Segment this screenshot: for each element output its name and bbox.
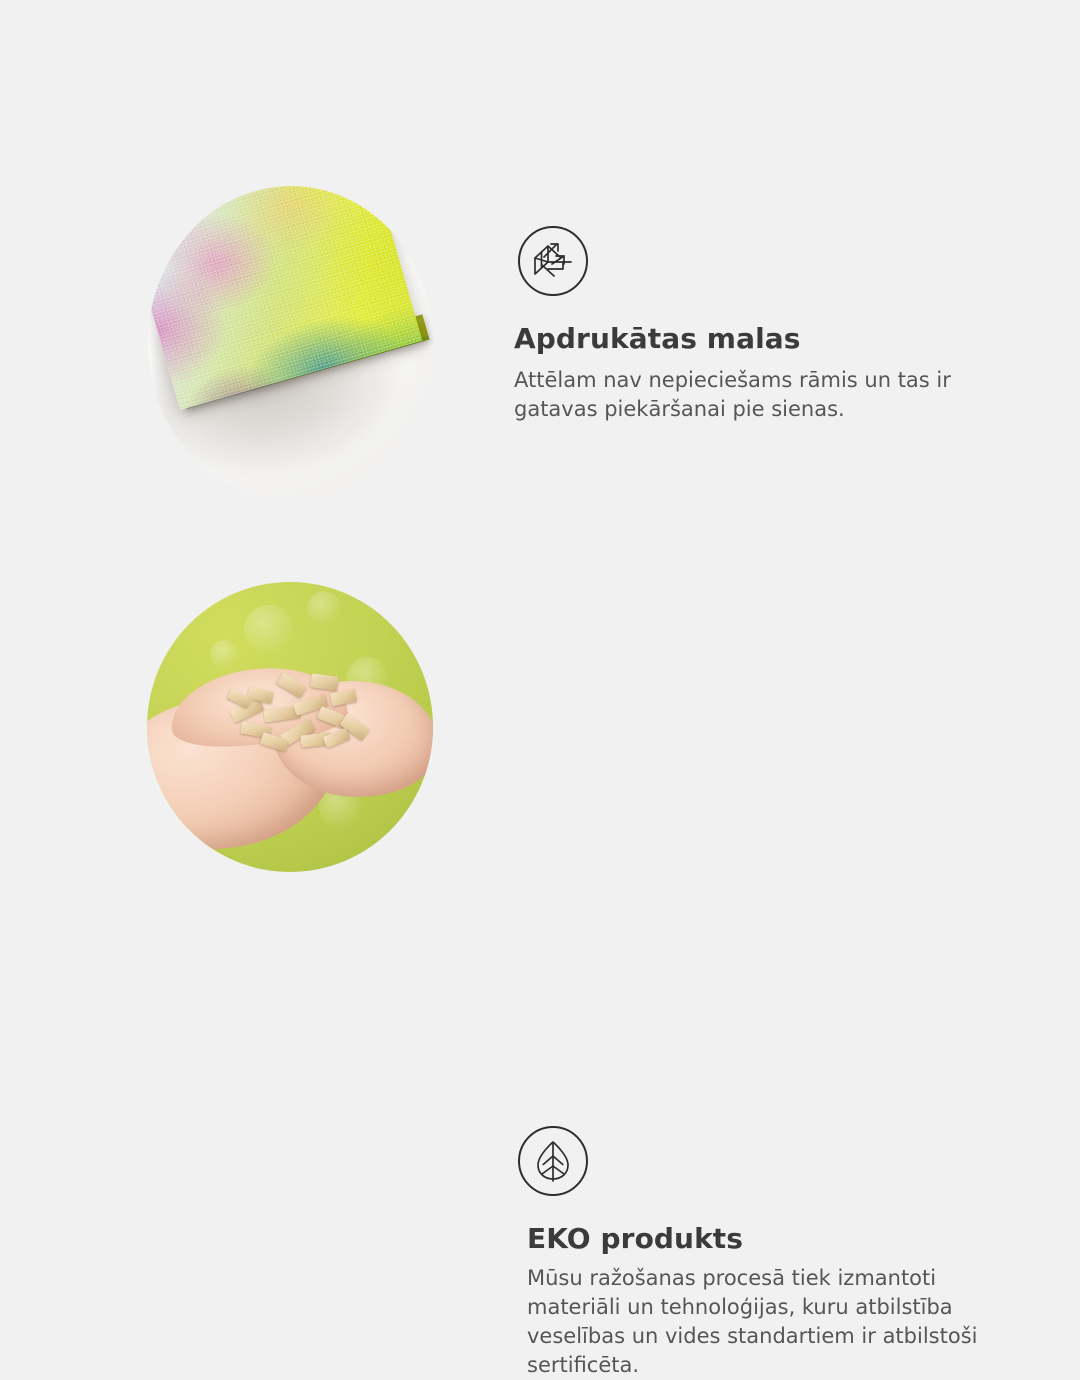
leaf-icon [518,1126,588,1196]
feature-description: Attēlam nav nepieciešams rāmis un tas ir… [514,366,994,424]
feature-title: EKO produkts [527,1222,1024,1256]
printed-edges-icon [518,226,588,296]
canvas-front-face [148,186,422,410]
feature-eko-product-info: EKO produkts Mūsu ražošanas procesā tiek… [514,1126,1024,1380]
feature-printed-edges-info: Apdrukātas malas Attēlam nav nepieciešam… [514,226,1014,424]
wood-chips-pile [221,669,387,768]
feature-printed-edges: Apdrukātas malas Attēlam nav nepieciešam… [0,0,1080,540]
infographic-page: Apdrukātas malas Attēlam nav nepieciešam… [0,0,1080,1080]
canvas-speckle-texture [148,186,422,410]
feature-description: Mūsu ražošanas procesā tiek izmantoti ma… [527,1264,1023,1380]
canvas-print-corner-photo [148,186,434,500]
feature-title: Apdrukātas malas [514,322,1014,356]
hands-holding-wood-chips-photo [147,582,433,872]
feature-eko-product: EKO produkts Mūsu ražošanas procesā tiek… [0,540,1080,1080]
canvas-print-block [170,186,434,448]
